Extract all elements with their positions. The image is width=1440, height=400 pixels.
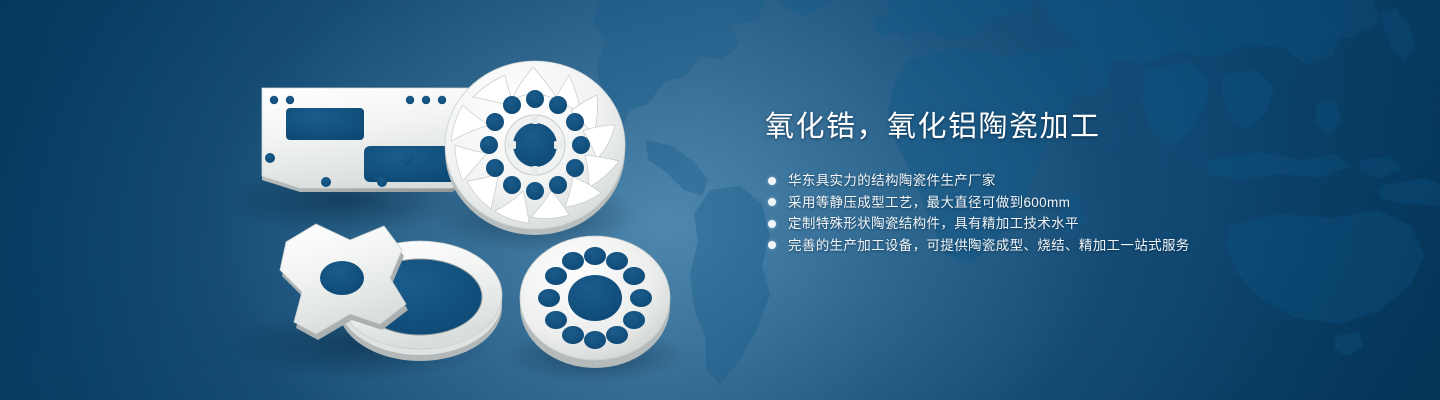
banner-feature-list: 华东具实力的结构陶瓷件生产厂家 采用等静压成型工艺，最大直径可做到600mm 定… [768, 170, 1385, 256]
ceramic-products-image [0, 0, 720, 400]
bullet-label: 采用等静压成型工艺，最大直径可做到600mm [788, 192, 1070, 213]
list-item: 定制特殊形状陶瓷结构件，具有精加工技术水平 [768, 213, 1385, 234]
list-item: 华东具实力的结构陶瓷件生产厂家 [768, 170, 1385, 191]
ceramic-cross-plate [280, 224, 408, 340]
list-item: 完善的生产加工设备，可提供陶瓷成型、烧结、精加工一站式服务 [768, 235, 1385, 256]
banner-copy: 氧化锆，氧化铝陶瓷加工 华东具实力的结构陶瓷件生产厂家 采用等静压成型工艺，最大… [765, 108, 1385, 256]
bullet-label: 华东具实力的结构陶瓷件生产厂家 [788, 170, 996, 191]
bullet-dot-icon [768, 241, 776, 249]
bullet-label: 定制特殊形状陶瓷结构件，具有精加工技术水平 [788, 213, 1079, 234]
banner-headline: 氧化锆，氧化铝陶瓷加工 [765, 108, 1385, 146]
bullet-label: 完善的生产加工设备，可提供陶瓷成型、烧结、精加工一站式服务 [788, 235, 1190, 256]
bullet-dot-icon [768, 177, 776, 185]
bullet-dot-icon [768, 220, 776, 228]
ceramic-perforated-disc [520, 236, 670, 368]
bullet-dot-icon [768, 198, 776, 206]
hero-banner: 氧化锆，氧化铝陶瓷加工 华东具实力的结构陶瓷件生产厂家 采用等静压成型工艺，最大… [0, 0, 1440, 400]
list-item: 采用等静压成型工艺，最大直径可做到600mm [768, 192, 1385, 213]
ceramic-impeller-disc [445, 61, 625, 235]
